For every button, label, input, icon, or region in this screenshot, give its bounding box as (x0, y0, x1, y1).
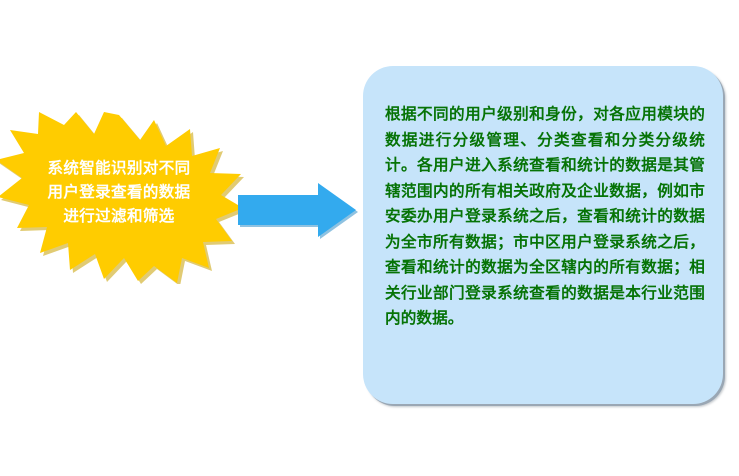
star-callout[interactable]: 系统智能识别对不同 用户登录查看的数据 进行过滤和筛选 (0, 112, 244, 284)
arrow-right-icon (238, 183, 358, 239)
star-callout-label: 系统智能识别对不同 用户登录查看的数据 进行过滤和筛选 (8, 156, 230, 228)
info-rounded-box[interactable]: 根据不同的用户级别和身份，对各应用模块的数据进行分级管理、分类查看和分类分级统计… (363, 66, 723, 404)
info-box-paragraph: 根据不同的用户级别和身份，对各应用模块的数据进行分级管理、分类查看和分类分级统计… (385, 102, 705, 332)
slide-canvas: 系统智能识别对不同 用户登录查看的数据 进行过滤和筛选 根据不同的用户级别和身份… (0, 0, 739, 476)
